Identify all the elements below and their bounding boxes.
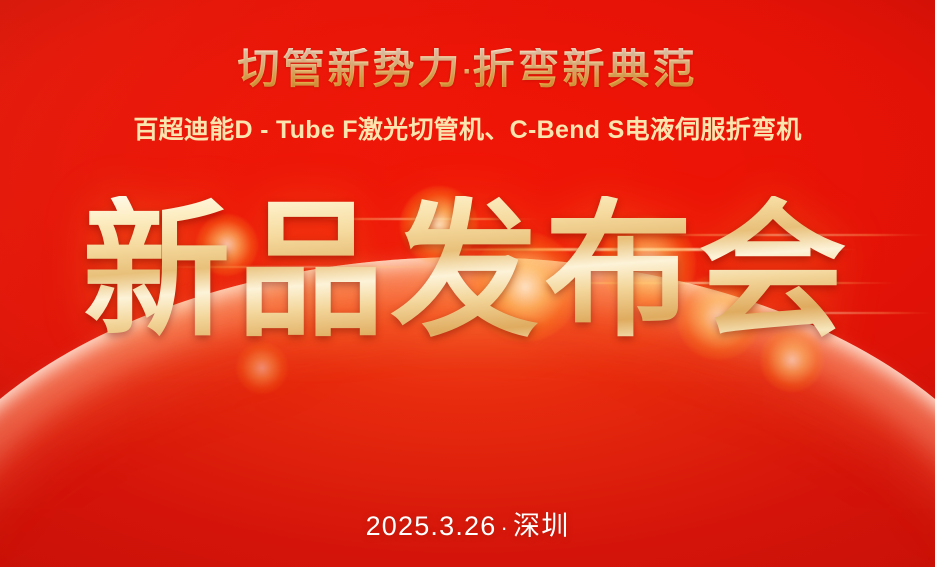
event-city: 深圳 xyxy=(513,511,569,541)
event-date-location: 2025.3.26·深圳 xyxy=(0,504,935,543)
main-title: 新品发布会 xyxy=(0,196,935,344)
main-title-text: 新品发布会 xyxy=(83,196,853,344)
headline-separator-dot: · xyxy=(463,55,473,88)
promo-poster: 切管新势力·折弯新典范 百超迪能D - Tube F激光切管机、C-Bend S… xyxy=(0,0,935,567)
footer-separator-dot: · xyxy=(500,515,509,540)
headline-slogan: 切管新势力·折弯新典范 xyxy=(0,48,935,90)
event-date: 2025.3.26 xyxy=(366,511,497,541)
headline-right-phrase: 折弯新典范 xyxy=(473,45,698,92)
product-subheadline: 百超迪能D - Tube F激光切管机、C-Bend S电液伺服折弯机 xyxy=(0,115,935,146)
headline-left-phrase: 切管新势力 xyxy=(237,45,462,92)
